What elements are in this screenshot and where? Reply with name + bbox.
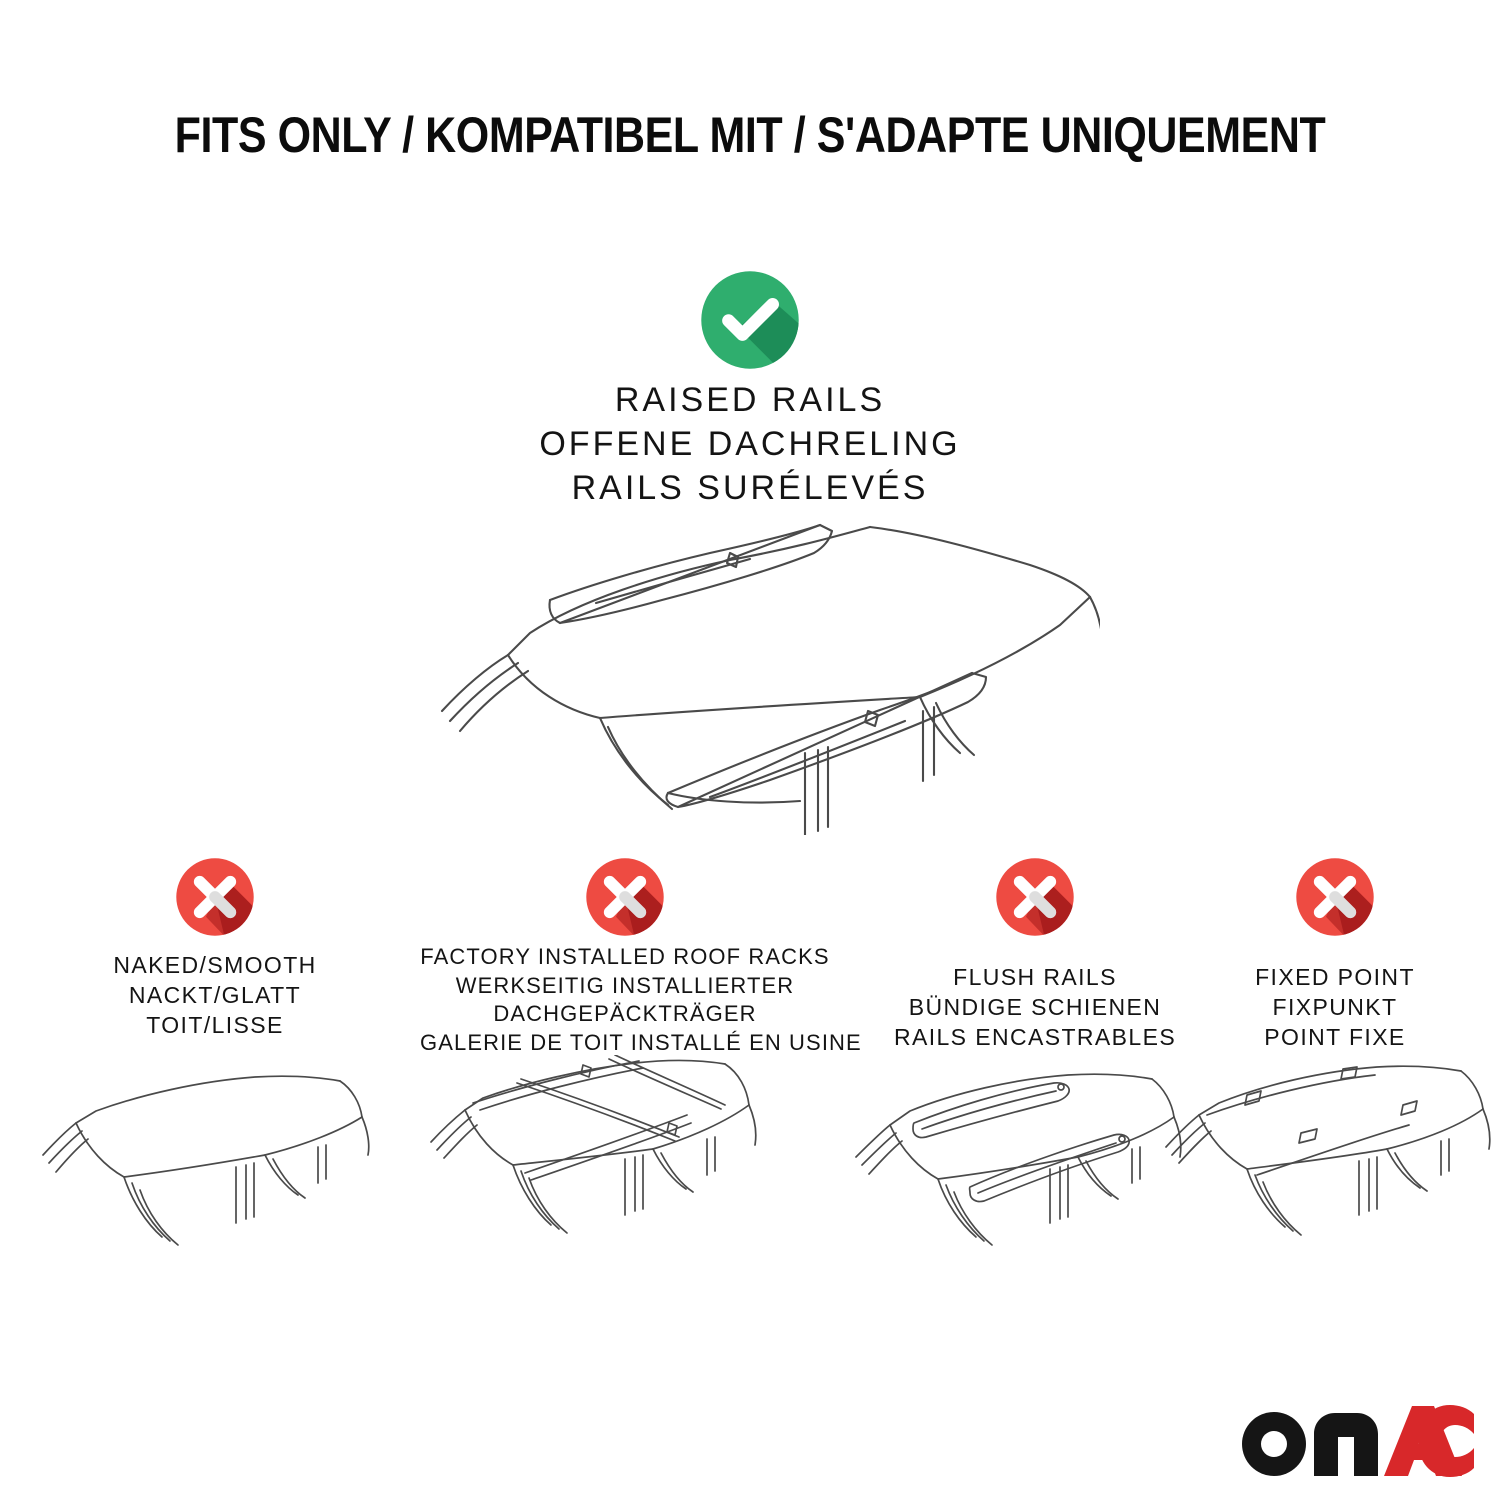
incompatible-caption-flush-rails: FLUSH RAILS BÜNDIGE SCHIENEN RAILS ENCAS… <box>850 963 1220 1053</box>
car-roof-raised-rails-diagram <box>400 505 1100 835</box>
red-cross-icon <box>580 852 670 942</box>
caption-line-1: FACTORY INSTALLED ROOF RACKS <box>420 943 830 972</box>
red-cross-icon <box>170 852 260 942</box>
caption-line-2: NACKT/GLATT <box>30 981 400 1011</box>
red-cross-icon <box>1290 852 1380 942</box>
caption-line-3: DACHGEPÄCKTRÄGER <box>420 1000 830 1029</box>
caption-line-1: NAKED/SMOOTH <box>30 951 400 981</box>
car-roof-factory-racks-diagram <box>425 1055 795 1275</box>
omac-logo-o <box>1242 1412 1306 1476</box>
fitment-infographic: FITS ONLY / KOMPATIBEL MIT / S'ADAPTE UN… <box>0 0 1500 1500</box>
incompatible-caption-naked-smooth: NAKED/SMOOTH NACKT/GLATT TOIT/LISSE <box>30 951 400 1041</box>
caption-line-2: BÜNDIGE SCHIENEN <box>850 993 1220 1023</box>
caption-line-3: TOIT/LISSE <box>30 1011 400 1041</box>
caption-line-1: FLUSH RAILS <box>850 963 1220 993</box>
car-roof-fixed-point-diagram <box>1165 1055 1500 1275</box>
incompatible-caption-factory-roof-racks: FACTORY INSTALLED ROOF RACKS WERKSEITIG … <box>420 943 830 1057</box>
green-check-icon <box>692 262 808 378</box>
incompatible-caption-fixed-point: FIXED POINT FIXPUNKT POINT FIXE <box>1180 963 1490 1053</box>
compatible-label-line-1: RAISED RAILS <box>0 378 1500 422</box>
caption-line-2: WERKSEITIG INSTALLIERTER <box>420 972 830 1001</box>
car-roof-naked-smooth-diagram <box>40 1055 400 1275</box>
caption-line-3: RAILS ENCASTRABLES <box>850 1023 1220 1053</box>
omac-logo <box>1238 1404 1474 1478</box>
compatible-label: RAISED RAILS OFFENE DACHRELING RAILS SUR… <box>0 378 1500 511</box>
red-cross-icon <box>990 852 1080 942</box>
caption-line-4: GALERIE DE TOIT INSTALLÉ EN USINE <box>420 1029 830 1058</box>
omac-logo-m <box>1314 1413 1378 1476</box>
caption-line-1: FIXED POINT <box>1180 963 1490 993</box>
caption-line-3: POINT FIXE <box>1180 1023 1490 1053</box>
compatible-label-line-3: RAILS SURÉLEVÉS <box>0 466 1500 510</box>
page-title: FITS ONLY / KOMPATIBEL MIT / S'ADAPTE UN… <box>105 106 1395 164</box>
caption-line-2: FIXPUNKT <box>1180 993 1490 1023</box>
compatible-label-line-2: OFFENE DACHRELING <box>0 422 1500 466</box>
